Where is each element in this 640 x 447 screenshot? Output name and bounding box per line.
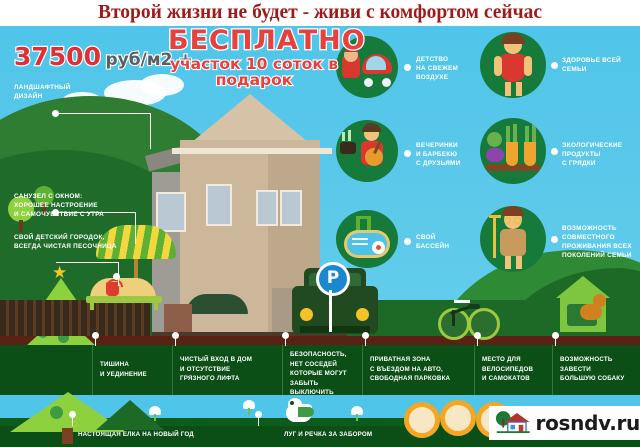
feature-icon-swimming-pool [336, 210, 398, 268]
tulip-icon [149, 406, 161, 415]
feature-label-children: ДЕТСТВО НА СВЕЖЕМ ВОЗДУХЕ [416, 55, 458, 82]
connector-line [56, 113, 151, 114]
label-bathroom-window: САНУЗЕЛ С ОКНОМ: ХОРОШЕЕ НАСТРОЕНИЕ И СА… [14, 192, 104, 219]
infographic-canvas: ★ P [0, 0, 640, 447]
connector-dot [551, 148, 558, 155]
feature-icon-woman-health [480, 32, 546, 98]
connector-dot [282, 332, 289, 339]
connector-dot [474, 332, 481, 339]
connector-dot [113, 273, 120, 280]
tulip-icon [243, 400, 255, 409]
watermark[interactable]: rosndv.ru [489, 406, 640, 440]
label-landscape-design: ЛАНДШАФТНЫЙ ДИЗАЙН [14, 83, 70, 101]
connector-dot [362, 332, 369, 339]
parking-sign-icon: P [316, 262, 350, 296]
benefits-band: ТИШИНА И УЕДИНЕНИЕ ЧИСТЫЙ ВХОД В ДОМ И О… [0, 345, 640, 395]
connector-dot [92, 332, 99, 339]
connector-dot [69, 411, 76, 418]
watermark-text: rosndv.ru [536, 411, 640, 435]
bottom-item-new-year-tree: НАСТОЯЩАЯ ЕЛКА НА НОВЫЙ ГОД [78, 431, 194, 438]
price-value: 37500 [14, 42, 101, 71]
connector-line [135, 212, 136, 244]
feature-icon-vegetables [480, 118, 546, 184]
benefit-item-big-dog: ВОЗМОЖНОСТЬ ЗАВЕСТИ БОЛЬШУЮ СОБАКУ [560, 355, 640, 384]
connector-line [56, 262, 118, 263]
connector-dot [552, 332, 559, 339]
free-offer-badge: БЕСПЛАТНО участок 10 соток в подарок [168, 27, 340, 89]
connector-dot [404, 238, 411, 245]
connector-line [150, 113, 151, 149]
bicycle-icon [438, 300, 500, 338]
price-badge: 37500 руб/м2 + [14, 42, 193, 71]
tulip-icon [351, 406, 363, 415]
sunflower-icon [404, 402, 440, 438]
sandbox-icon [86, 278, 162, 308]
feature-label-health: ЗДОРОВЬЕ ВСЕЙ СЕМЬИ [562, 56, 621, 74]
feature-icon-guitar-barbecue [336, 120, 398, 182]
benefit-item-clean-entrance: ЧИСТЫЙ ВХОД В ДОМ И ОТСУТСТВИЕ ГРЯЗНОГО … [180, 355, 280, 384]
house-tree-logo-icon [495, 410, 532, 436]
connector-dot [404, 64, 411, 71]
connector-dot [551, 62, 558, 69]
feature-label-pool: СВОЙ БАССЕЙН [416, 233, 449, 251]
connector-dot [255, 411, 262, 418]
benefit-item-quiet: ТИШИНА И УЕДИНЕНИЕ [100, 360, 170, 379]
label-kids-playground: СВОЙ ДЕТСКИЙ ГОРОДОК, ВСЕГДА ЧИСТАЯ ПЕСО… [14, 233, 117, 251]
feature-label-barbecue: ВЕЧЕРИНКИ И БАРБЕКЮ С ДРУЗЬЯМИ [416, 141, 460, 168]
benefit-item-bikes: МЕСТО ДЛЯ ВЕЛОСИПЕДОВ И САМОКАТОВ [482, 355, 554, 384]
feature-label-eco-products: ЭКОЛОГИЧЕСКИЕ ПРОДУКТЫ С ГРЯДКИ [562, 141, 622, 168]
free-offer-subline: участок 10 соток в подарок [168, 56, 340, 89]
feature-label-generations: ВОЗМОЖНОСТЬ СОВМЕСТНОГО ПРОЖИВАНИЯ ВСЕХ … [562, 224, 632, 260]
feature-icon-elderly-woman [480, 206, 546, 272]
parking-sign-letter: P [316, 262, 350, 296]
dog-icon [580, 292, 606, 326]
benefit-item-private-parking: ПРИВАТНАЯ ЗОНА С ВЪЕЗДОМ НА АВТО, СВОБОД… [370, 355, 476, 384]
connector-dot [172, 332, 179, 339]
connector-dot [52, 110, 59, 117]
free-offer-headline: БЕСПЛАТНО [168, 25, 366, 56]
sunflower-icon [440, 400, 476, 436]
connector-dot [404, 150, 411, 157]
bottom-item-meadow-river: ЛУГ И РЕЧКА ЗА ЗАБОРОМ [284, 431, 372, 438]
title-bar: Второй жизни не будет - живи с комфортом… [0, 0, 640, 26]
connector-dot [551, 236, 558, 243]
page-title: Второй жизни не будет - живи с комфортом… [0, 0, 640, 26]
